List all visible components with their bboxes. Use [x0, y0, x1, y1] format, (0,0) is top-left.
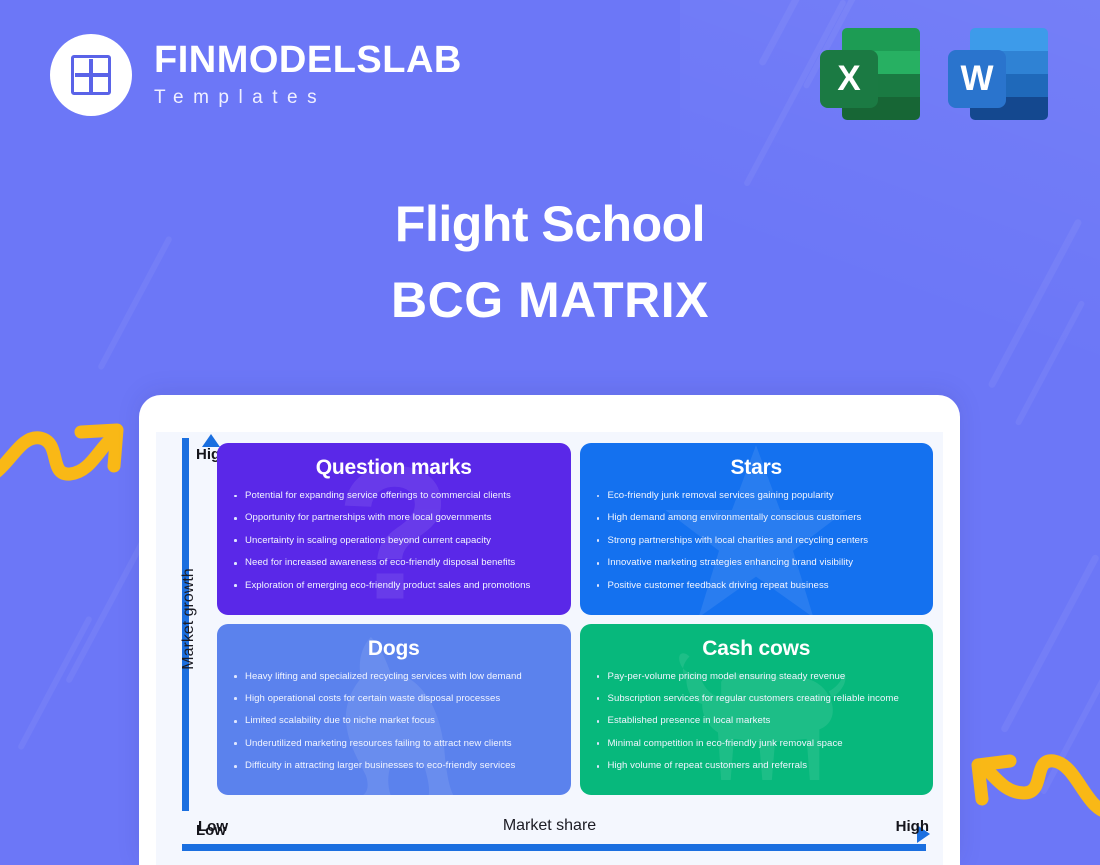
list-item: Subscription services for regular custom…: [594, 693, 920, 705]
list-item: Positive customer feedback driving repea…: [594, 580, 920, 592]
page-title: Flight School BCG MATRIX: [0, 196, 1100, 328]
list-item: Innovative marketing strategies enhancin…: [594, 557, 920, 569]
quadrant-title: Cash cows: [594, 637, 920, 661]
excel-icon: X: [820, 28, 920, 120]
quadrant-stars[interactable]: Stars Eco-friendly junk removal services…: [580, 443, 934, 615]
quadrant-bullet-list: Pay-per-volume pricing model ensuring st…: [594, 671, 920, 773]
list-item: Difficulty in attracting larger business…: [231, 760, 557, 772]
list-item: Pay-per-volume pricing model ensuring st…: [594, 671, 920, 683]
logo-subtitle: Templates: [154, 87, 462, 109]
list-item: Eco-friendly junk removal services gaini…: [594, 490, 920, 502]
word-icon-letter: W: [948, 50, 1006, 108]
logo-name: FINMODELSLAB: [154, 41, 462, 79]
list-item: Uncertainty in scaling operations beyond…: [231, 535, 557, 547]
y-axis-label: Market growth: [180, 549, 198, 689]
quadrant-title: Dogs: [231, 637, 557, 661]
quadrant-title: Question marks: [231, 456, 557, 480]
brand-logo: FINMODELSLAB Templates: [50, 34, 462, 116]
x-axis-label: Market share: [156, 817, 943, 835]
quadrant-bullet-list: Heavy lifting and specialized recycling …: [231, 671, 557, 773]
list-item: Need for increased awareness of eco-frie…: [231, 557, 557, 569]
logo-badge: [50, 34, 132, 116]
list-item: Potential for expanding service offering…: [231, 490, 557, 502]
matrix-panel: High Low Market growth Low High Market s…: [156, 432, 943, 865]
quadrant-cash-cows[interactable]: Cash cows Pay-per-volume pricing model e…: [580, 624, 934, 796]
office-icons-group: X W: [820, 28, 1048, 120]
title-matrix: BCG MATRIX: [0, 272, 1100, 328]
title-company: Flight School: [0, 196, 1100, 252]
x-axis-line: [182, 844, 926, 851]
quadrant-bullet-list: Potential for expanding service offering…: [231, 490, 557, 592]
list-item: Limited scalability due to niche market …: [231, 715, 557, 727]
list-item: Established presence in local markets: [594, 715, 920, 727]
grid-icon: [71, 55, 111, 95]
quadrant-dogs[interactable]: Dogs Heavy lifting and specialized recyc…: [217, 624, 571, 796]
squiggle-arrow-down-left-icon: [966, 735, 1100, 825]
list-item: High operational costs for certain waste…: [231, 693, 557, 705]
quadrant-question-marks[interactable]: ? Question marks Potential for expanding…: [217, 443, 571, 615]
list-item: Minimal competition in eco-friendly junk…: [594, 738, 920, 750]
quadrant-bullet-list: Eco-friendly junk removal services gaini…: [594, 490, 920, 592]
word-icon: W: [948, 28, 1048, 120]
list-item: High volume of repeat customers and refe…: [594, 760, 920, 772]
list-item: Strong partnerships with local charities…: [594, 535, 920, 547]
list-item: Heavy lifting and specialized recycling …: [231, 671, 557, 683]
list-item: Opportunity for partnerships with more l…: [231, 512, 557, 524]
list-item: Exploration of emerging eco-friendly pro…: [231, 580, 557, 592]
list-item: High demand among environmentally consci…: [594, 512, 920, 524]
quadrant-title: Stars: [594, 456, 920, 480]
excel-icon-letter: X: [820, 50, 878, 108]
quadrant-grid: ? Question marks Potential for expanding…: [217, 443, 933, 795]
squiggle-arrow-up-right-icon: [0, 408, 126, 493]
list-item: Underutilized marketing resources failin…: [231, 738, 557, 750]
matrix-card: High Low Market growth Low High Market s…: [139, 395, 960, 865]
